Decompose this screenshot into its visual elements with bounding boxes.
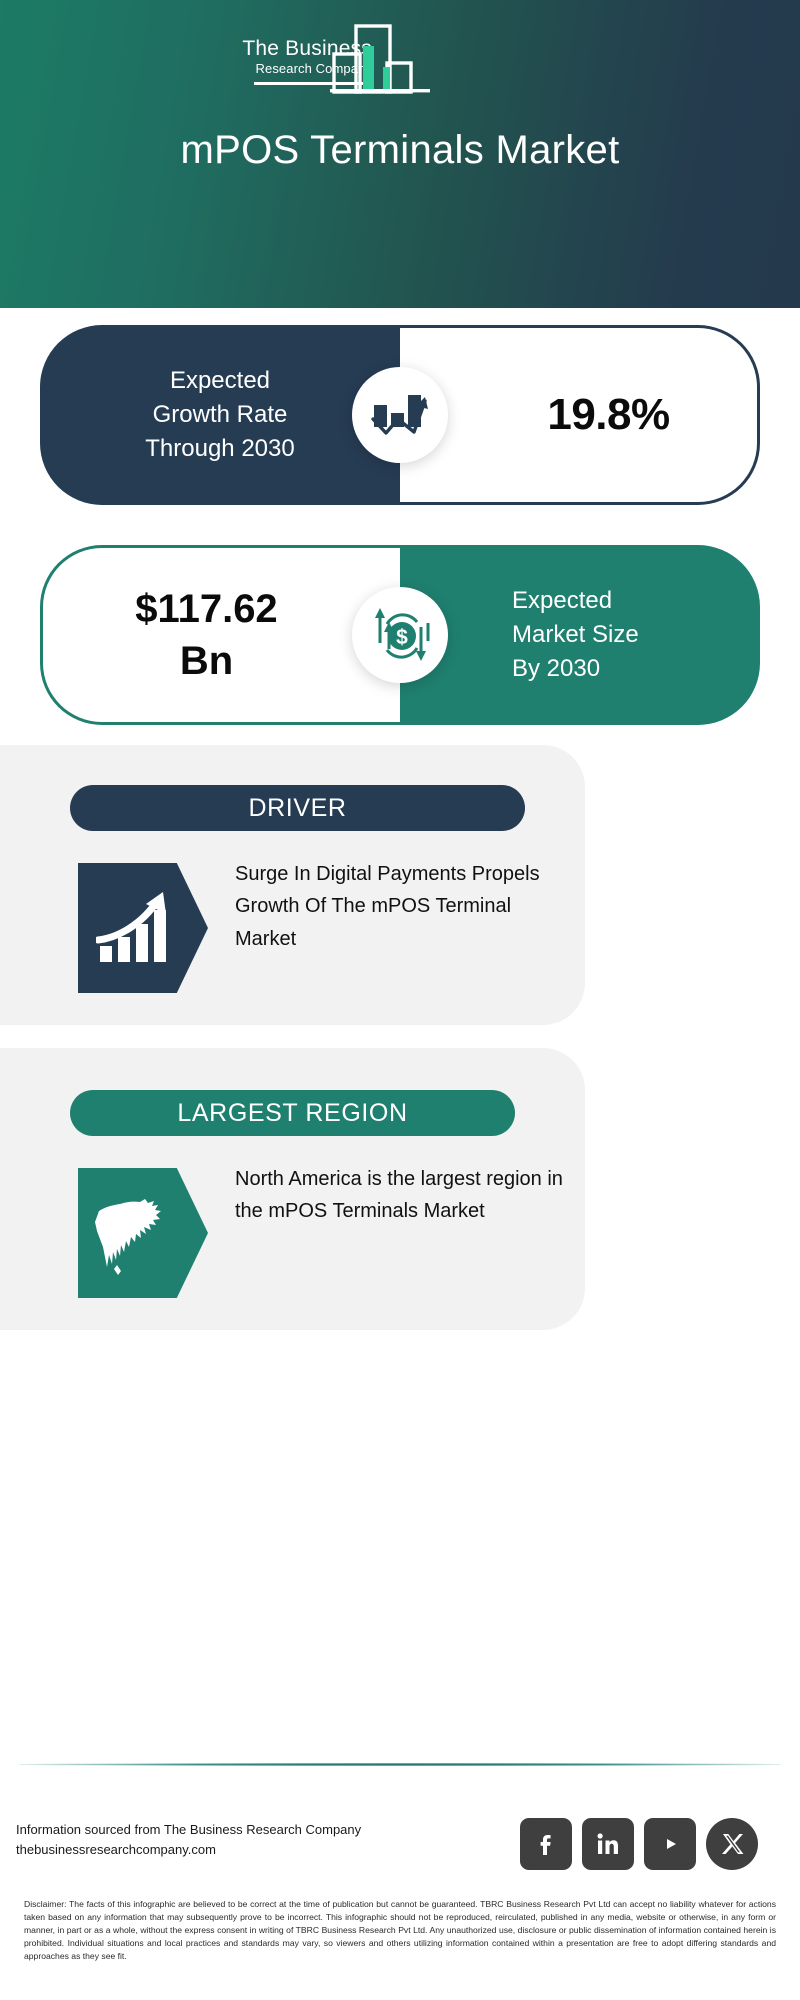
region-icon-hex	[78, 1168, 208, 1298]
linkedin-icon[interactable]	[582, 1818, 634, 1870]
stat-card-growth-rate: Expected Growth Rate Through 2030 19.8%	[40, 325, 760, 505]
market-size-icon-bubble: $	[352, 587, 448, 683]
youtube-icon[interactable]	[644, 1818, 696, 1870]
footer-source-line-2[interactable]: thebusinessresearchcompany.com	[16, 1840, 436, 1860]
driver-panel: DRIVER Surge In Digital Payments Propels…	[0, 745, 585, 1025]
driver-pill: DRIVER	[70, 785, 525, 831]
dollar-cycle-icon: $	[369, 605, 431, 665]
growth-arrow-bars-icon	[96, 890, 178, 966]
disclaimer-text: Disclaimer: The facts of this infographi…	[24, 1898, 776, 1963]
company-logo: The Business Research Company	[212, 22, 432, 94]
bar-chart-growth-icon	[370, 387, 430, 443]
driver-icon-hex	[78, 863, 208, 993]
stat-card-market-size: $117.62 Bn Expected Market Size By 2030 …	[40, 545, 760, 725]
stat-card-value-panel: 19.8%	[400, 325, 760, 505]
stat-card-value-panel: $117.62 Bn	[40, 545, 400, 725]
logo-bar-chart-icon	[330, 22, 430, 96]
stat-card-label: Expected Growth Rate Through 2030	[90, 364, 350, 466]
market-size-value: $117.62 Bn	[107, 583, 337, 687]
page-title: mPOS Terminals Market	[0, 128, 800, 173]
stat-card-label: Expected Market Size By 2030	[470, 584, 690, 686]
x-twitter-icon[interactable]	[706, 1818, 758, 1870]
growth-rate-icon-bubble	[352, 367, 448, 463]
north-america-map-icon	[93, 1189, 179, 1277]
facebook-icon[interactable]	[520, 1818, 572, 1870]
driver-text: Surge In Digital Payments Propels Growth…	[235, 858, 565, 955]
footer-divider	[20, 1763, 780, 1766]
svg-text:$: $	[396, 626, 408, 649]
largest-region-pill: LARGEST REGION	[70, 1090, 515, 1136]
header-banner: The Business Research Company mPOS Termi…	[0, 0, 800, 308]
growth-rate-value: 19.8%	[487, 390, 669, 440]
social-links	[520, 1818, 784, 1870]
stat-card-label-panel: Expected Growth Rate Through 2030	[40, 325, 400, 505]
region-text: North America is the largest region in t…	[235, 1163, 565, 1228]
footer-source: Information sourced from The Business Re…	[16, 1820, 436, 1860]
largest-region-panel: LARGEST REGION North America is the larg…	[0, 1048, 585, 1330]
footer-source-line-1: Information sourced from The Business Re…	[16, 1820, 436, 1840]
stat-card-label-panel: Expected Market Size By 2030	[400, 545, 760, 725]
